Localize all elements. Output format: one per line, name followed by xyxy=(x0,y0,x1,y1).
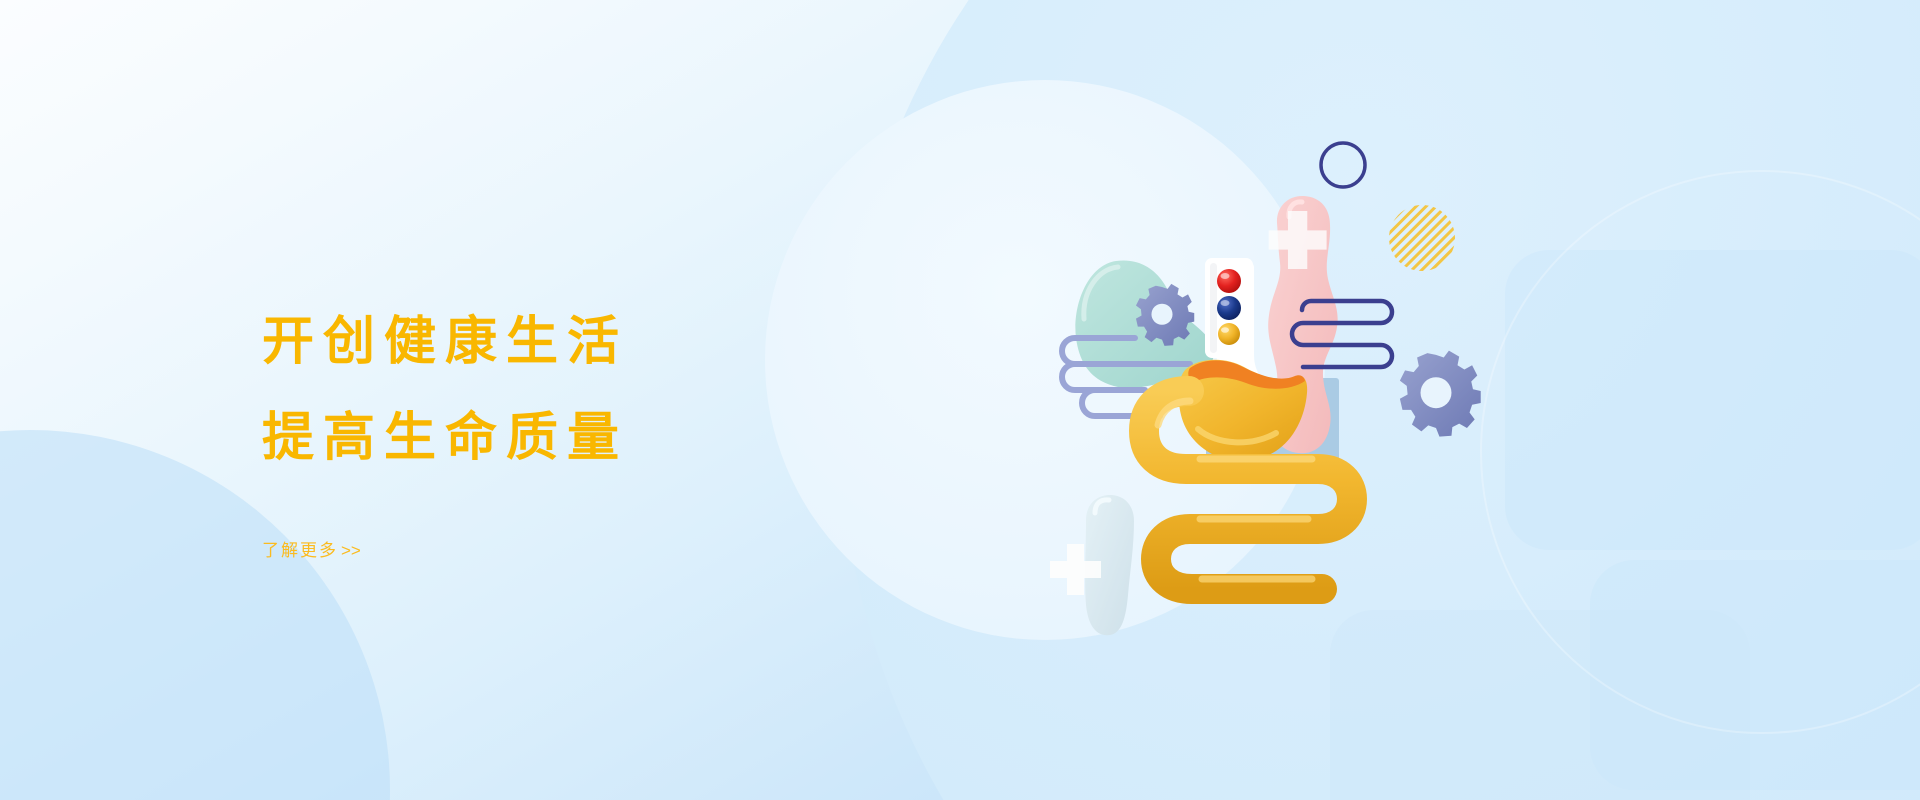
chevron-right-icon: >> xyxy=(338,541,361,560)
background-rounded-rect-2 xyxy=(1590,560,1920,790)
digestive-system-illustration xyxy=(1040,95,1560,655)
hero-banner: 开创健康生活 提高生命质量 了解更多>> xyxy=(0,0,1920,800)
gear-large xyxy=(1400,351,1481,437)
esophagus-shadow xyxy=(1210,263,1217,353)
ring-outline xyxy=(1321,143,1365,187)
striped-circle xyxy=(1389,205,1455,271)
pill-navy xyxy=(1217,296,1241,320)
pill-yellow-gloss xyxy=(1221,327,1229,333)
pill-red-gloss xyxy=(1221,273,1230,279)
pill-red xyxy=(1217,269,1241,293)
page-title-line-2: 提高生命质量 xyxy=(262,412,882,464)
pill-yellow xyxy=(1218,323,1240,345)
background-rounded-rect-1 xyxy=(1505,250,1920,550)
learn-more-link[interactable]: 了解更多>> xyxy=(262,536,361,561)
learn-more-label: 了解更多 xyxy=(262,541,338,560)
hero-copy-block: 开创健康生活 提高生命质量 了解更多>> xyxy=(262,316,882,561)
pill-navy-gloss xyxy=(1221,300,1230,306)
page-title-line-1: 开创健康生活 xyxy=(262,316,882,368)
